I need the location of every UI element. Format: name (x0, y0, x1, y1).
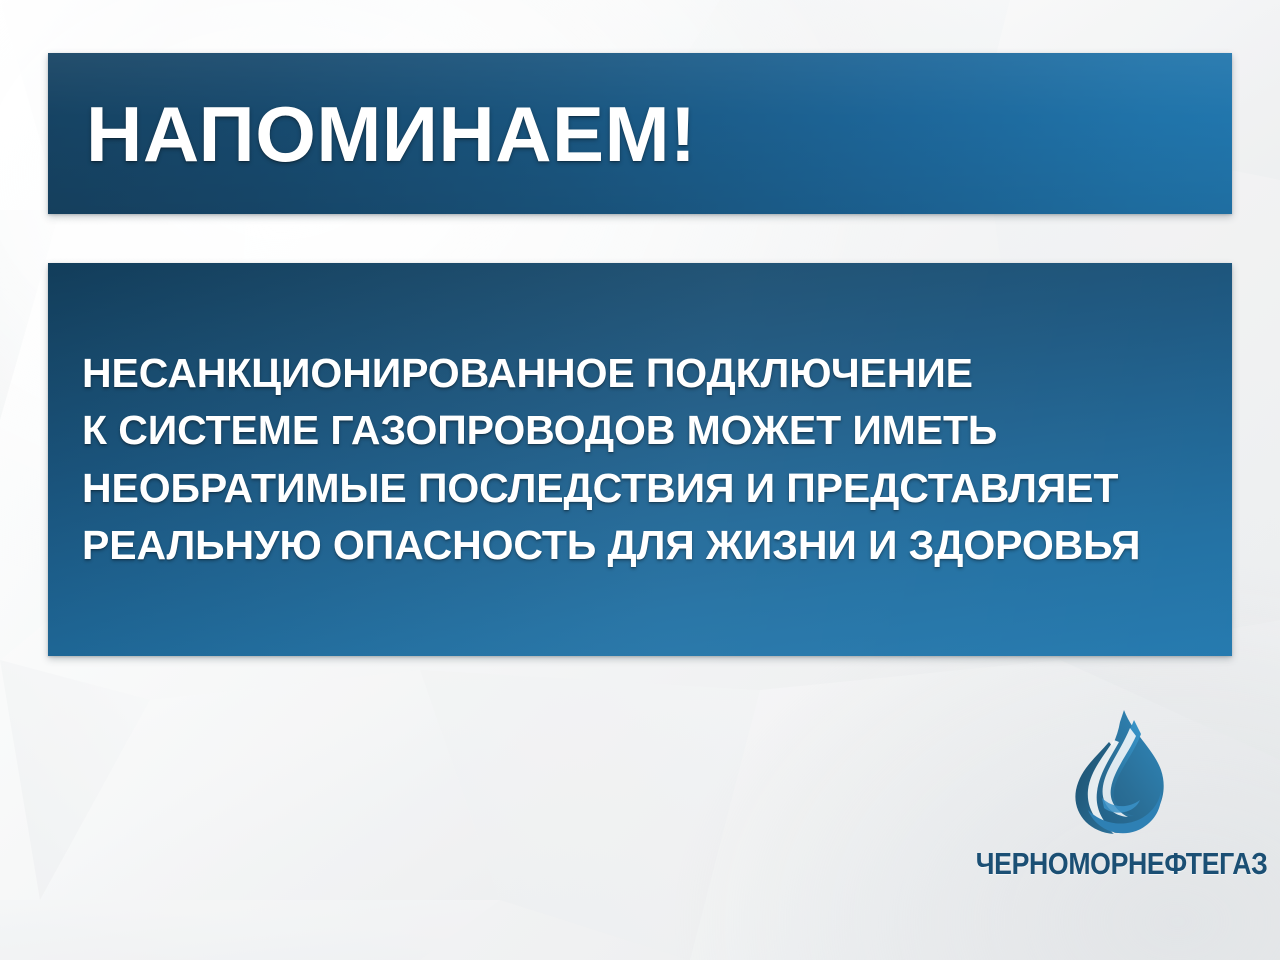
poster-root: НАПОМИНАЕМ! НЕСАНКЦИОНИРОВАННОЕ ПОДКЛЮЧЕ… (0, 0, 1280, 960)
title-banner: НАПОМИНАЕМ! (48, 53, 1232, 214)
warning-message-line-4: РЕАЛЬНУЮ ОПАСНОСТЬ ДЛЯ ЖИЗНИ И ЗДОРОВЬЯ (82, 517, 1140, 575)
page-title: НАПОМИНАЕМ! (48, 95, 697, 173)
warning-message-line-1: НЕСАНКЦИОНИРОВАННОЕ ПОДКЛЮЧЕНИЕ (82, 345, 1140, 403)
message-banner: НЕСАНКЦИОНИРОВАННОЕ ПОДКЛЮЧЕНИЕ К СИСТЕМ… (48, 263, 1232, 656)
logo-wordmark: ЧЕРНОМОРНЕФТЕГАЗ (976, 846, 1268, 882)
warning-message: НЕСАНКЦИОНИРОВАННОЕ ПОДКЛЮЧЕНИЕ К СИСТЕМ… (48, 345, 1150, 575)
gas-flame-droplet-icon (1062, 706, 1182, 842)
warning-message-line-3: НЕОБРАТИМЫЕ ПОСЛЕДСТВИЯ И ПРЕДСТАВЛЯЕТ (82, 460, 1140, 518)
company-logo: ЧЕРНОМОРНЕФТЕГАЗ (988, 706, 1256, 886)
warning-message-line-2: К СИСТЕМЕ ГАЗОПРОВОДОВ МОЖЕТ ИМЕТЬ (82, 402, 1140, 460)
